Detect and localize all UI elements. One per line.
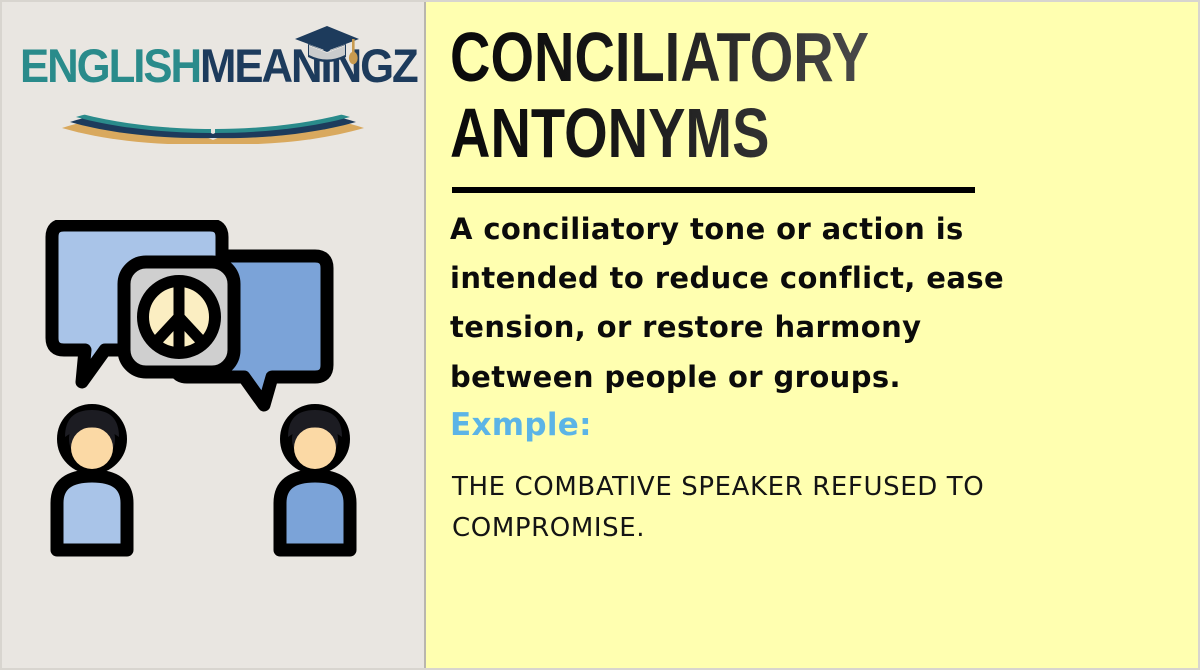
- title-divider-rule: [452, 187, 975, 193]
- person-right-icon: [280, 410, 350, 550]
- graduation-cap-icon: [292, 24, 362, 70]
- brand-logo: ENGLISHMEANINGZ: [20, 24, 408, 134]
- poster-root: ENGLISHMEANINGZ: [0, 0, 1200, 670]
- example-sentence: THE COMBATIVE SPEAKER REFUSED TO COMPROM…: [452, 467, 1052, 548]
- peace-sign-icon: [143, 281, 215, 353]
- title-line-1: CONCILIATORY: [450, 24, 1024, 92]
- conciliation-illustration: [38, 220, 393, 570]
- left-panel: ENGLISHMEANINGZ: [2, 2, 426, 668]
- right-panel: CONCILIATORY ANTONYMS A conciliatory ton…: [426, 2, 1198, 668]
- definition-text: A conciliatory tone or action is intende…: [450, 205, 1050, 402]
- open-book-icon: [48, 102, 378, 144]
- title-line-2: ANTONYMS: [450, 100, 1024, 168]
- brand-name-part-1: ENGLISH: [20, 39, 200, 92]
- page-title: CONCILIATORY ANTONYMS: [450, 24, 1168, 168]
- person-left-icon: [57, 410, 127, 550]
- example-label: Exmple:: [450, 404, 1168, 447]
